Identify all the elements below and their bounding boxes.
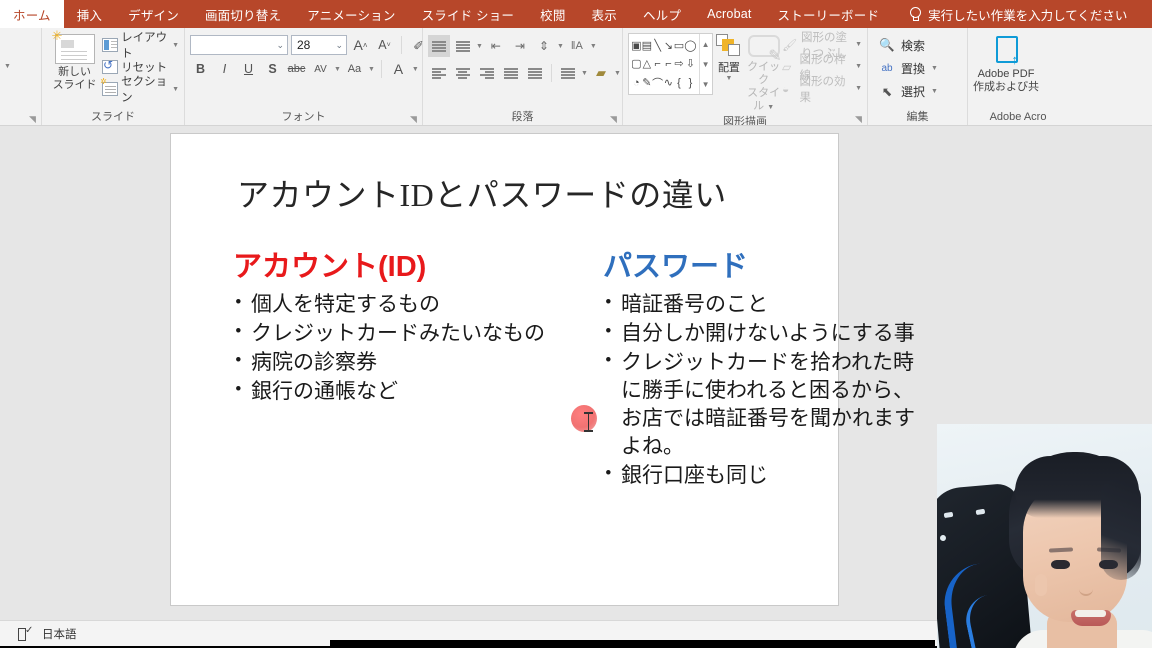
new-slide-label-1: 新しい [58,66,91,79]
list-item: 病院の診察券 [233,348,545,376]
chevron-down-icon: ▼ [614,70,621,77]
column-left-bullets: 個人を特定するもの クレジットカードみたいなもの 病院の診察券 銀行の通帳など [233,290,545,405]
align-left-icon [432,68,446,78]
group-label-acrobat: Adobe Acro [973,109,1063,125]
tab-review-label: 校閲 [540,5,565,24]
list-item: 個人を特定するもの [233,290,545,318]
right-brace-shape-icon[interactable]: } [684,73,696,92]
quick-styles-icon [746,33,782,61]
select-label: 選択 [901,83,925,100]
align-right-button[interactable] [476,62,498,84]
ribbon-group-acrobat: Adobe PDF 作成および共 Adobe Acro [968,28,1068,125]
arc-shape-icon[interactable]: ⌒ [652,73,663,92]
tab-help[interactable]: ヘルプ [630,0,694,28]
font-name-input[interactable]: ⌄ [190,35,288,55]
numbering-button[interactable] [452,35,474,57]
find-label: 検索 [901,37,925,54]
adobe-pdf-icon [990,35,1022,67]
adobe-pdf-label-1: Adobe PDF [978,68,1035,81]
tab-help-label: ヘルプ [643,5,681,24]
tab-home-label: ホーム [13,5,51,24]
shape-effects-button[interactable]: ◒図形の効果▼ [782,78,862,99]
arrange-label: 配置 [718,59,740,75]
tab-slideshow[interactable]: スライド ショー [409,0,528,28]
ribbon: ▼ ◥ ✳ 新しい スライド レイアウト▼ リセット セクション▼ [0,28,1152,126]
group-label-drawing: 図形描画 [628,114,862,126]
column-right-heading: パスワード [603,250,933,284]
replace-button[interactable]: ab置換▼ [873,57,938,79]
freeform-shape-icon[interactable]: ✎ [642,73,653,92]
down-arrow-shape-icon[interactable]: ⇩ [684,55,696,74]
smartart-icon [561,68,575,78]
align-text-icon: ▰ [596,65,606,81]
chevron-down-icon: ▼ [557,43,564,50]
rectangle-shape-icon[interactable]: ▭ [674,36,685,55]
columns-icon [528,68,542,78]
sparkle-icon: ✳ [52,29,63,42]
search-icon: 🔍 [879,38,895,53]
divider [401,36,402,54]
grow-font-button[interactable]: A˄ [350,35,371,56]
find-button[interactable]: 🔍検索 [873,34,938,56]
elbow-arrow-icon[interactable]: ⌐ [663,55,674,74]
italic-button[interactable]: I [214,59,235,80]
chevron-down-icon: ▼ [725,75,732,82]
chevron-down-icon: ▼ [4,63,11,70]
text-shadow-button[interactable]: S [262,59,283,80]
tab-view-label: 表示 [592,5,617,24]
decrease-indent-button[interactable]: ⇤ [485,35,507,57]
chevron-down-icon: ▼ [412,66,419,73]
proofing-icon[interactable] [18,627,33,641]
curve-shape-icon[interactable]: ∿ [663,73,674,92]
change-case-button[interactable]: Aa [344,59,365,80]
person-nose [1079,578,1093,596]
group-label-editing: 編集 [873,109,962,125]
brush-icon [0,81,1,98]
tab-design[interactable]: デザイン [115,0,192,28]
divider [381,60,382,78]
drawing-dialog-launcher[interactable]: ◥ [855,115,864,124]
fill-icon: 🖌 [782,38,797,52]
decrease-indent-icon: ⇤ [491,39,501,53]
scissors-icon [0,35,1,52]
left-brace-shape-icon[interactable]: { [674,73,685,92]
scroll-up-icon[interactable]: ▲ [700,34,712,54]
ribbon-group-font: ⌄ 28 ⌄ A˄ A˅ ✐ B I U S abc [185,28,423,125]
chevron-down-icon: ▼ [855,63,862,70]
tab-home[interactable]: ホーム [0,0,64,28]
tab-view[interactable]: 表示 [579,0,630,28]
section-label: セクション [121,73,169,105]
new-slide-icon: ✳ [55,34,95,64]
oval-shape-icon[interactable]: ◯ [684,36,696,55]
triangle-shape-icon[interactable]: △ [642,55,653,74]
chevron-down-icon: ▼ [931,88,938,95]
column-right-bullets: 暗証番号のこと 自分しか開けないようにする事 クレジットカードを拾われた時に勝手… [603,290,933,489]
pie-shape-icon[interactable]: ◔ [631,73,642,92]
text-cursor-icon [584,411,593,433]
ribbon-tab-bar: ホーム 挿入 デザイン 画面切り替え アニメーション スライド ショー 校閲 表… [0,0,1152,28]
section-button[interactable]: セクション▼ [102,79,179,99]
slide-column-left[interactable]: アカウント(ID) 個人を特定するもの クレジットカードみたいなもの 病院の診察… [233,250,545,406]
arrange-icon [714,33,744,59]
list-item: 自分しか開けないようにする事 [603,319,933,347]
slide-title[interactable]: アカウントIDとパスワードの違い [237,170,817,216]
numbered-list-icon [456,41,470,51]
bold-button[interactable]: B [190,59,211,80]
increase-indent-icon: ⇥ [515,39,525,53]
powerpoint-window: ホーム 挿入 デザイン 画面切り替え アニメーション スライド ショー 校閲 表… [0,0,1152,648]
chevron-down-icon: ⌄ [276,40,284,51]
select-button[interactable]: ⬉選択▼ [873,80,938,102]
tab-transitions[interactable]: 画面切り替え [192,0,294,28]
effects-icon: ◒ [782,82,795,96]
paragraph-dialog-launcher[interactable]: ◥ [610,115,619,124]
ribbon-group-slide: ✳ 新しい スライド レイアウト▼ リセット セクション▼ スライド [42,28,185,125]
tab-acrobat[interactable]: Acrobat [694,0,764,28]
shapes-more-icon[interactable]: ▼ [700,74,712,94]
quick-styles-button[interactable]: クイック スタイル ▼ [745,31,782,114]
align-left-button[interactable] [428,62,450,84]
language-label[interactable]: 日本語 [42,626,77,642]
section-icon [102,82,118,96]
person-eyebrow-left [1049,547,1073,552]
lightbulb-icon [908,7,921,22]
arrow-shape-icon[interactable]: ↘ [663,36,674,55]
tab-storyboard-label: ストーリーボード [778,5,880,24]
chevron-down-icon: ▼ [855,41,862,48]
list-item: 銀行の通帳など [233,377,545,405]
slide-column-right[interactable]: パスワード 暗証番号のこと 自分しか開けないようにする事 クレジットカードを拾わ… [603,250,933,490]
shapes-scrollbar[interactable]: ▲ ▼ ▼ [699,34,712,94]
replace-label: 置換 [901,60,925,77]
chevron-down-icon: ▼ [767,104,774,111]
new-slide-button[interactable]: ✳ 新しい スライド [47,31,102,92]
line-spacing-icon: ⇕ [539,39,549,53]
columns-button[interactable] [524,62,546,84]
vertical-textbox-shape-icon[interactable]: ▤ [642,36,653,55]
font-dialog-launcher[interactable]: ◥ [410,115,419,124]
ribbon-group-drawing: ▣ ▤ ╲ ↘ ▭ ◯ ▢ △ ⌐ ⌐ ⇨ ⇩ ◔ ✎ ⌒ [623,28,868,125]
line-spacing-button[interactable]: ⇕ [533,35,555,57]
arrange-button[interactable]: 配置 ▼ [713,31,746,82]
copy-icon [0,58,1,75]
group-label-font: フォント [190,109,417,125]
chevron-down-icon: ▼ [590,43,597,50]
justify-button[interactable] [500,62,522,84]
align-center-button[interactable] [452,62,474,84]
text-direction-button[interactable]: ‖A [566,35,588,57]
tab-animations-label: アニメーション [307,5,395,24]
tab-review[interactable]: 校閲 [527,0,578,28]
chevron-down-icon: ▼ [931,65,938,72]
layout-button[interactable]: レイアウト▼ [102,35,179,55]
person-ear [1035,574,1047,596]
list-item: 暗証番号のこと [603,290,933,318]
underline-button[interactable]: U [238,59,259,80]
elbow-connector-icon[interactable]: ⌐ [652,55,663,74]
replace-icon: ab [879,61,895,76]
clipboard-dialog-launcher[interactable]: ◥ [29,115,38,124]
right-arrow-shape-icon[interactable]: ⇨ [674,55,685,74]
reset-icon [102,60,118,74]
chevron-down-icon: ▼ [334,66,341,73]
slide-canvas[interactable]: アカウントIDとパスワードの違い アカウント(ID) 個人を特定するもの クレジ… [170,133,839,606]
font-size-value: 28 [297,38,310,52]
list-item: クレジットカードみたいなもの [233,319,545,347]
person-teeth [1075,610,1106,617]
select-icon: ⬉ [879,84,895,99]
tab-insert[interactable]: 挿入 [64,0,115,28]
justify-icon [504,68,518,78]
bullets-button[interactable] [428,35,450,57]
column-left-heading: アカウント(ID) [233,250,545,284]
align-center-icon [456,68,470,78]
bullet-list-icon [432,41,446,51]
format-painter-button[interactable] [0,79,11,99]
text-direction-icon: ‖A [571,40,583,52]
ribbon-group-editing: 🔍検索 ab置換▼ ⬉選択▼ 編集 [868,28,968,125]
ribbon-group-paragraph: ▼ ⇤ ⇥ ⇕ ▼ ‖A ▼ [423,28,623,125]
chevron-down-icon: ▼ [855,85,862,92]
person-eye-left [1051,560,1070,569]
shapes-gallery[interactable]: ▣ ▤ ╲ ↘ ▭ ◯ ▢ △ ⌐ ⌐ ⇨ ⇩ ◔ ✎ ⌒ [628,33,713,95]
ribbon-group-clipboard: ▼ ◥ [0,28,42,125]
group-label-slide: スライド [47,109,179,125]
divider [551,64,552,82]
align-text-button[interactable]: ▰ [590,62,612,84]
chevron-down-icon: ▼ [476,43,483,50]
character-spacing-button[interactable]: AV [310,59,331,80]
tab-animations[interactable]: アニメーション [294,0,408,28]
tab-design-label: デザイン [128,5,179,24]
chevron-down-icon: ▼ [368,66,375,73]
tab-insert-label: 挿入 [77,5,102,24]
font-color-button[interactable]: A [388,59,409,80]
shape-effects-label: 図形の効果 [799,73,851,105]
copy-button[interactable]: ▼ [0,56,11,76]
webcam-overlay [937,424,1152,648]
convert-smartart-button[interactable] [557,62,579,84]
chevron-down-icon: ⌄ [335,40,343,51]
scroll-down-icon[interactable]: ▼ [700,54,712,74]
person-head [1009,452,1141,620]
shrink-font-button[interactable]: A˅ [374,35,395,56]
layout-icon [102,38,118,52]
tab-acrobat-label: Acrobat [707,7,751,21]
new-slide-label-2: スライド [53,79,97,92]
tab-slideshow-label: スライド ショー [422,5,515,24]
adobe-pdf-button[interactable]: Adobe PDF 作成および共 [973,31,1039,94]
tab-transitions-label: 画面切り替え [205,5,281,24]
chevron-down-icon: ▼ [172,86,179,93]
tab-storyboard[interactable]: ストーリーボード [765,0,893,28]
outline-icon: ▱ [782,60,795,74]
tell-me-placeholder: 実行したい作業を入力してください [928,5,1127,24]
rounded-rectangle-shape-icon[interactable]: ▢ [631,55,642,74]
font-size-input[interactable]: 28 ⌄ [291,35,347,55]
strikethrough-button[interactable]: abc [286,59,307,80]
align-right-icon [480,68,494,78]
increase-indent-button[interactable]: ⇥ [509,35,531,57]
chevron-down-icon: ▼ [581,70,588,77]
list-item: 銀行口座も同じ [603,461,933,489]
tell-me-search[interactable]: 実行したい作業を入力してください [892,0,1137,28]
chevron-down-icon: ▼ [172,42,179,49]
adobe-pdf-label-2: 作成および共 [973,81,1039,94]
textbox-shape-icon[interactable]: ▣ [631,36,642,55]
quick-styles-label-2: スタイル [747,87,780,112]
line-shape-icon[interactable]: ╲ [652,36,663,55]
group-label-paragraph: 段落 [428,109,617,125]
cut-button[interactable] [0,33,11,53]
list-item: クレジットカードを拾われた時に勝手に使われると困るから、お店では暗証番号を聞かれ… [603,348,933,460]
person-fringe-side [1101,480,1141,580]
